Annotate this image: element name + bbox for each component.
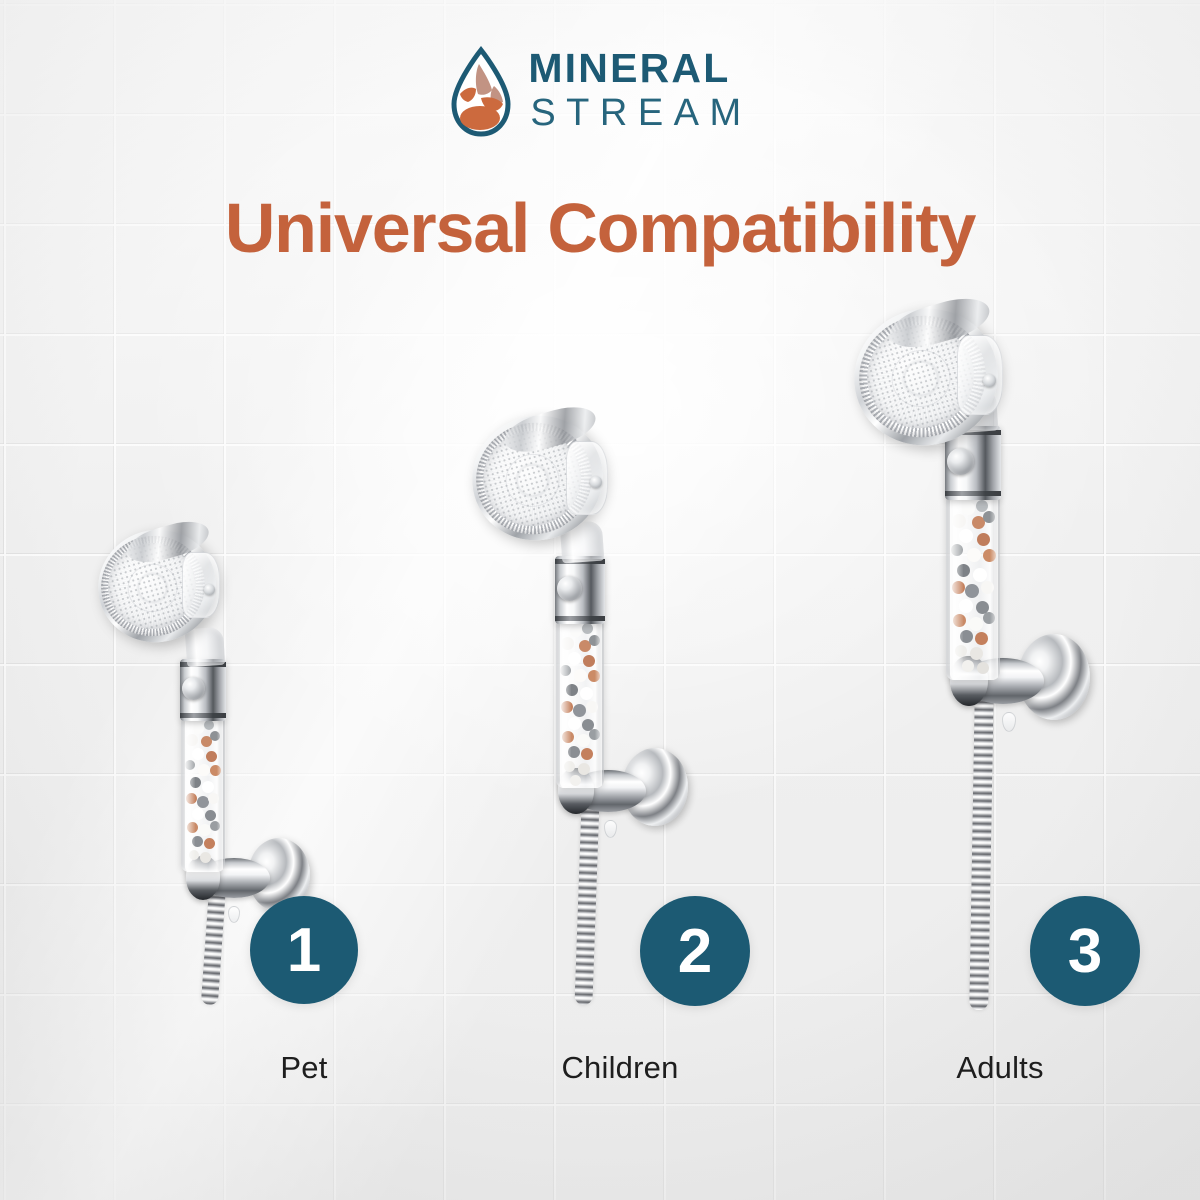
shower-head-3	[852, 304, 1008, 452]
head-clear-elbow	[957, 335, 1003, 415]
chamber-highlight-right	[990, 496, 998, 680]
shower-hose	[969, 690, 994, 1010]
step-badge-3-number: 3	[1068, 916, 1102, 987]
mineral-filter-chamber	[946, 496, 1000, 680]
mount-water-drop	[1002, 712, 1016, 732]
head-side-button[interactable]	[983, 374, 996, 387]
chamber-highlight	[950, 496, 963, 680]
promo-canvas: MINERAL STREAM Universal Compatibility	[0, 0, 1200, 1200]
step-badge-3: 3	[1030, 896, 1140, 1006]
product-unit-3: 3 Adults	[0, 0, 1200, 1200]
spray-mode-button[interactable]	[947, 448, 974, 475]
caption-3-text: Adults	[956, 1050, 1043, 1085]
caption-3: Adults	[840, 1050, 1160, 1086]
